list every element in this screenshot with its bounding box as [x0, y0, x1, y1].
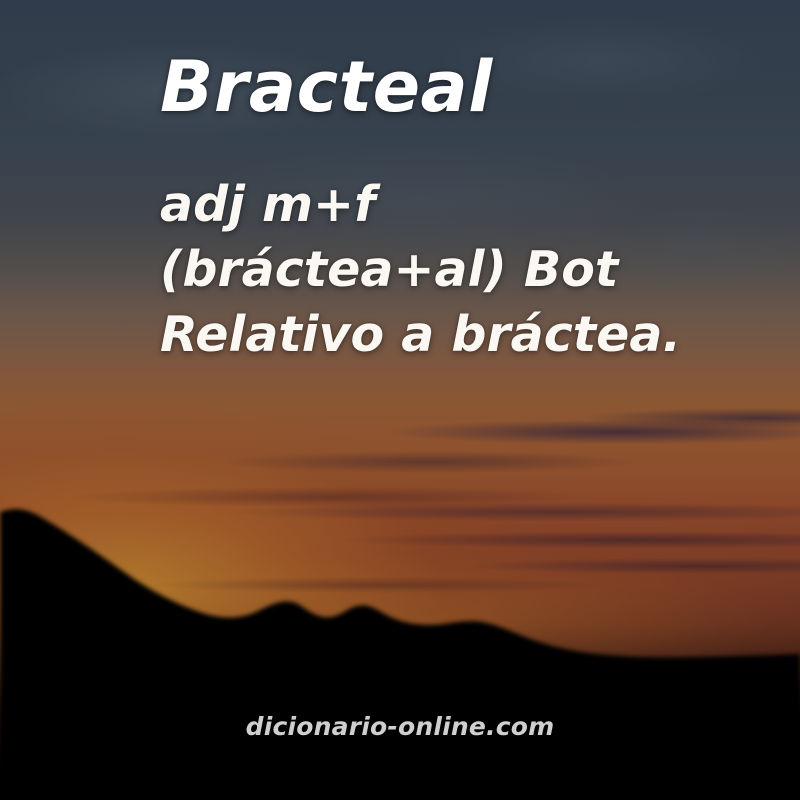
definition-card: Bracteal adj m+f (bráctea+al) Bot Relati… — [0, 0, 800, 800]
definition-line-grammar: adj m+f — [160, 172, 681, 237]
definition-line-meaning: Relativo a bráctea. — [160, 302, 681, 367]
footer: dicionario-online.com — [0, 712, 800, 741]
page-title: Bracteal — [160, 52, 493, 122]
site-watermark: dicionario-online.com — [246, 712, 555, 741]
definition-line-etymology: (bráctea+al) Bot — [160, 237, 681, 302]
definition-text: adj m+f (bráctea+al) Bot Relativo a brác… — [160, 172, 681, 367]
